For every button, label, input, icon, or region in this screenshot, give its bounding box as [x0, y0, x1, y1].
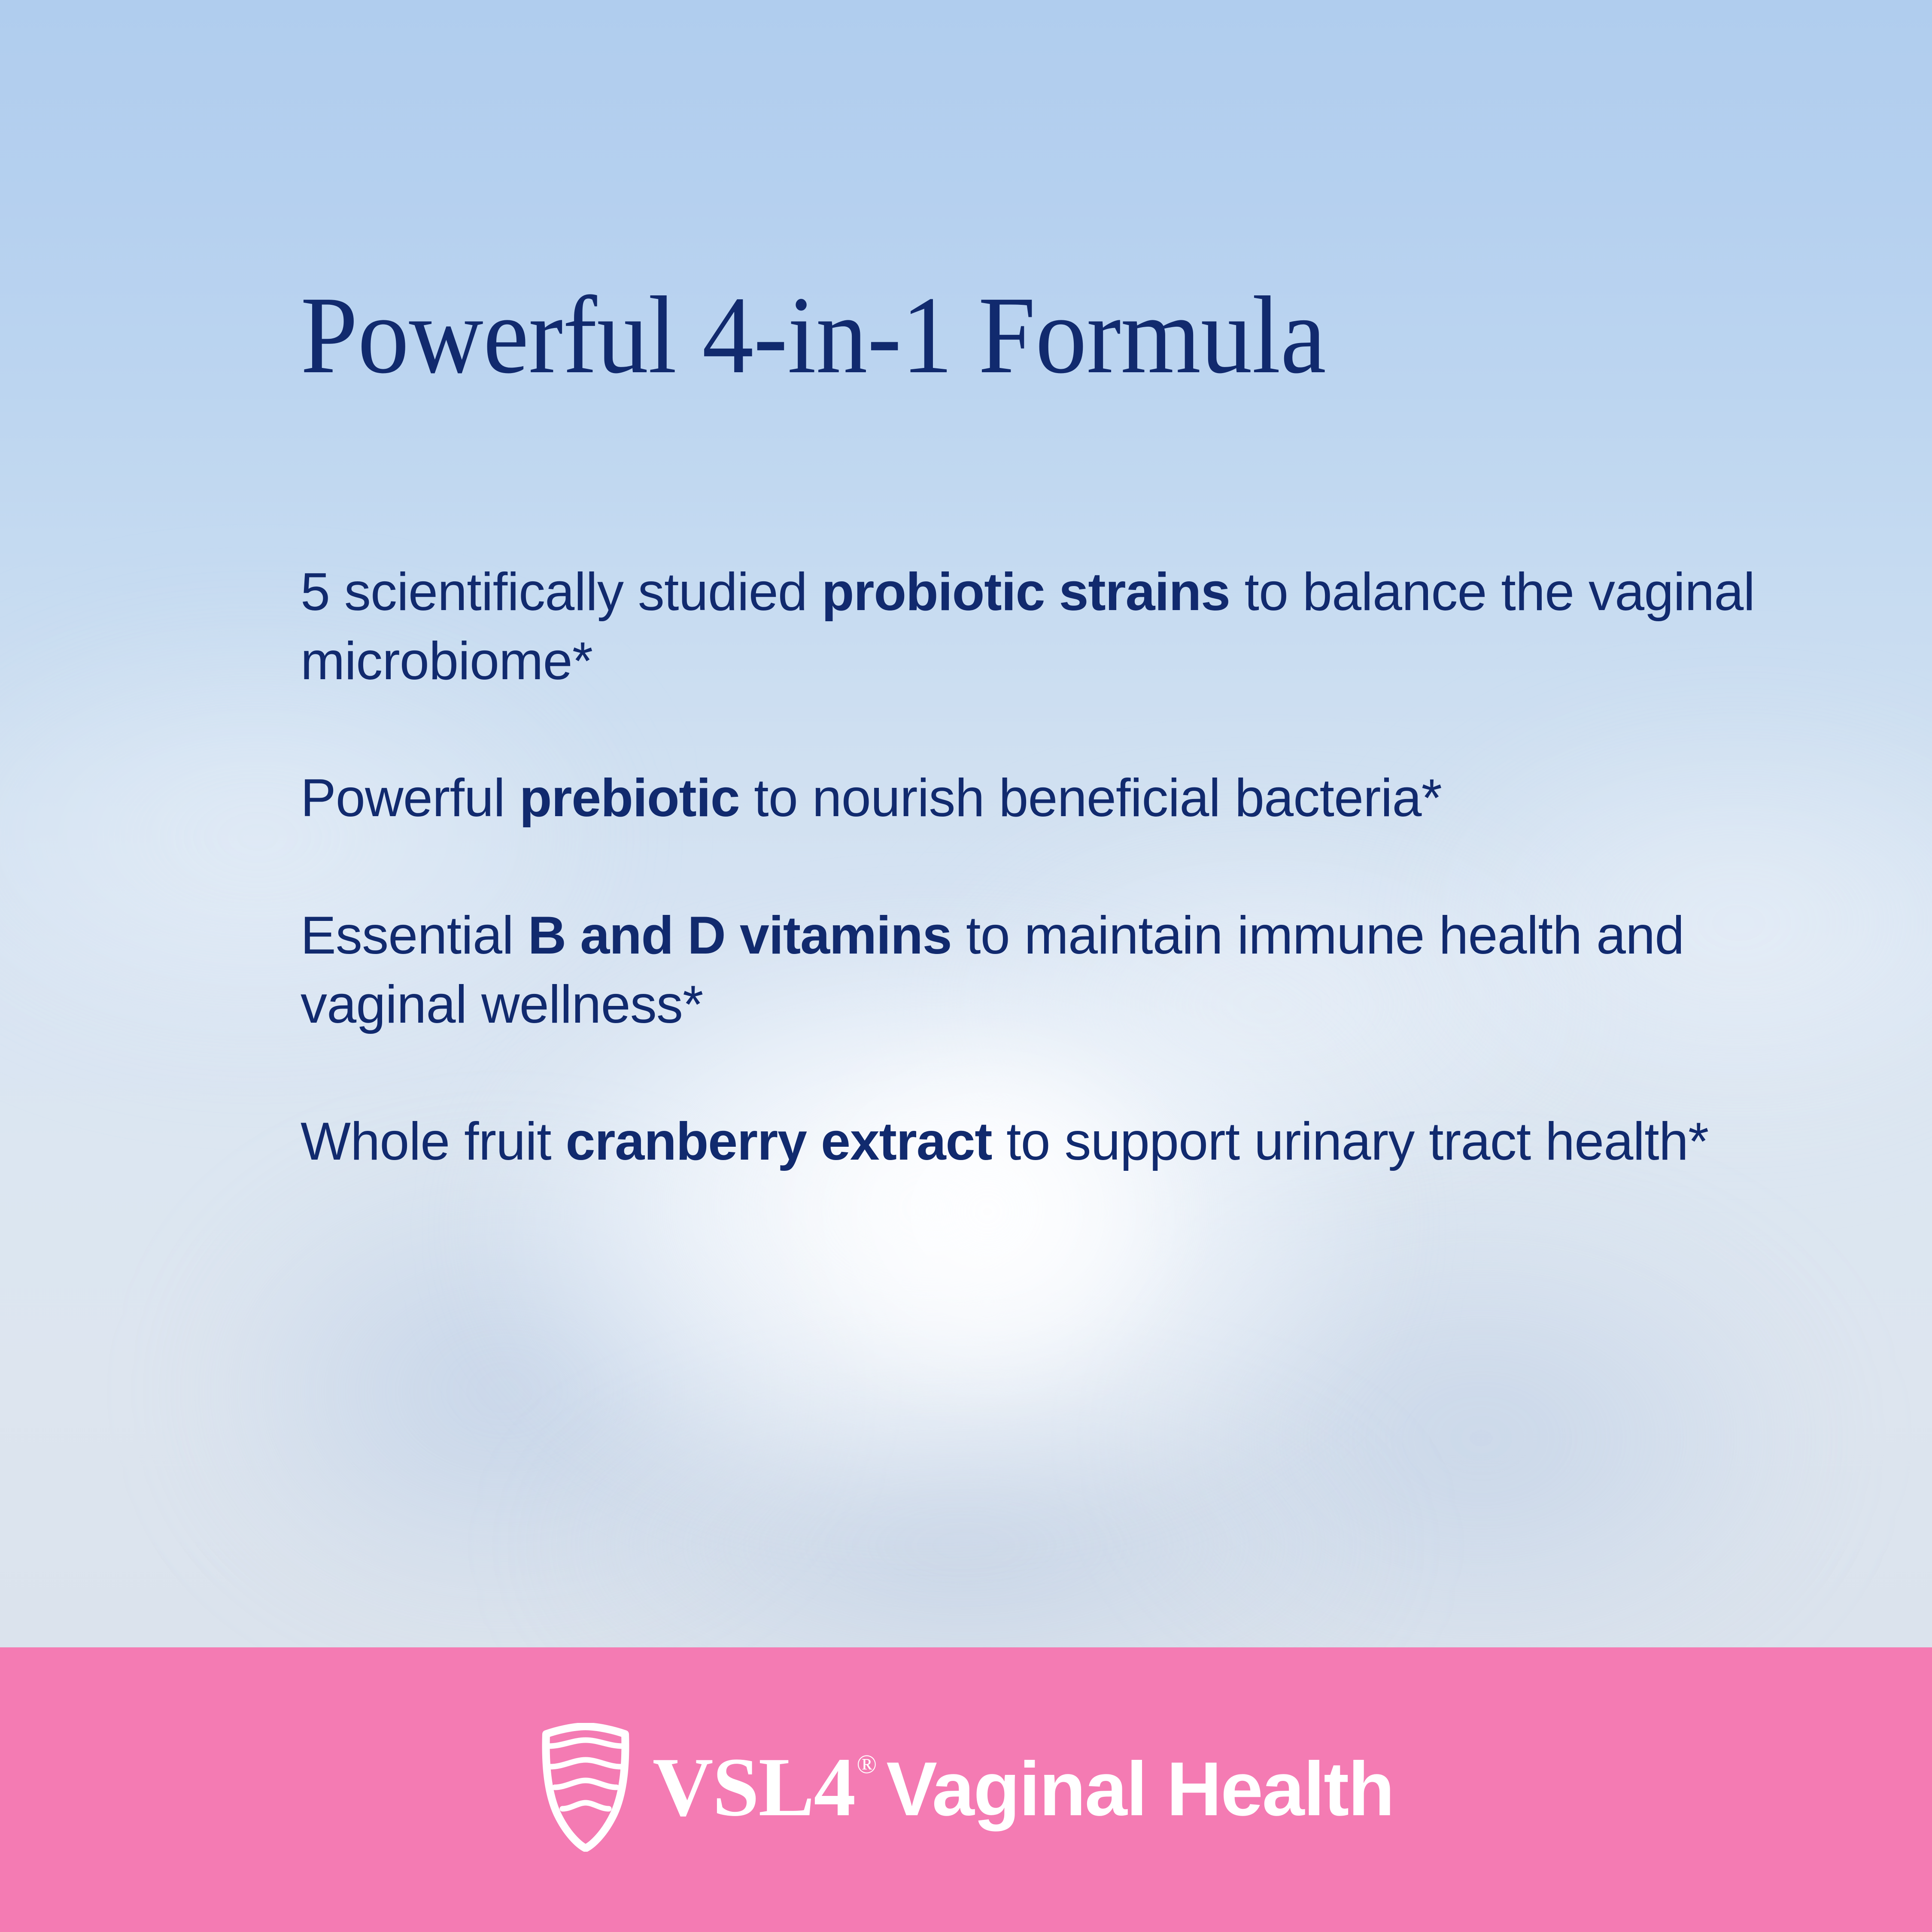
- registered-trademark-icon: ®: [857, 1751, 877, 1778]
- page-title: Powerful 4-in-1 Formula: [301, 279, 1658, 390]
- benefit-emphasis: probiotic strains: [822, 562, 1230, 622]
- benefit-emphasis: B and D vitamins: [528, 906, 952, 965]
- promo-card: Powerful 4-in-1 Formula 5 scientifically…: [0, 0, 1932, 1932]
- benefit-item-prebiotic: Powerful prebiotic to nourish beneficial…: [301, 764, 1795, 833]
- benefit-lead-text: 5 scientifically studied: [301, 562, 822, 622]
- brand-mark-vsl4: VSL4: [653, 1745, 855, 1829]
- brand-lockup: VSL4 ® Vaginal Health: [538, 1723, 1394, 1852]
- benefit-trail-text: to nourish beneficial bacteria*: [740, 769, 1442, 828]
- benefit-lead-text: Essential: [301, 906, 528, 965]
- benefit-emphasis: cranberry extract: [565, 1112, 992, 1171]
- benefit-lead-text: Whole fruit: [301, 1112, 565, 1171]
- benefit-list: 5 scientifically studied probiotic strai…: [301, 504, 1795, 1176]
- shield-icon: [538, 1723, 633, 1852]
- benefit-item-b-and-d-vitamins: Essential B and D vitamins to maintain i…: [301, 901, 1795, 1039]
- benefit-item-probiotic-strains: 5 scientifically studied probiotic strai…: [301, 558, 1795, 696]
- benefit-trail-text: to support urinary tract health*: [992, 1112, 1708, 1171]
- brand-footer-bar: VSL4 ® Vaginal Health: [0, 1647, 1932, 1932]
- benefit-emphasis: prebiotic: [519, 769, 740, 828]
- brand-wordmark: VSL4 ® Vaginal Health: [653, 1745, 1394, 1829]
- benefit-item-cranberry-extract: Whole fruit cranberry extract to support…: [301, 1107, 1795, 1176]
- brand-name-vaginal-health: Vaginal Health: [886, 1751, 1394, 1827]
- benefit-lead-text: Powerful: [301, 769, 519, 828]
